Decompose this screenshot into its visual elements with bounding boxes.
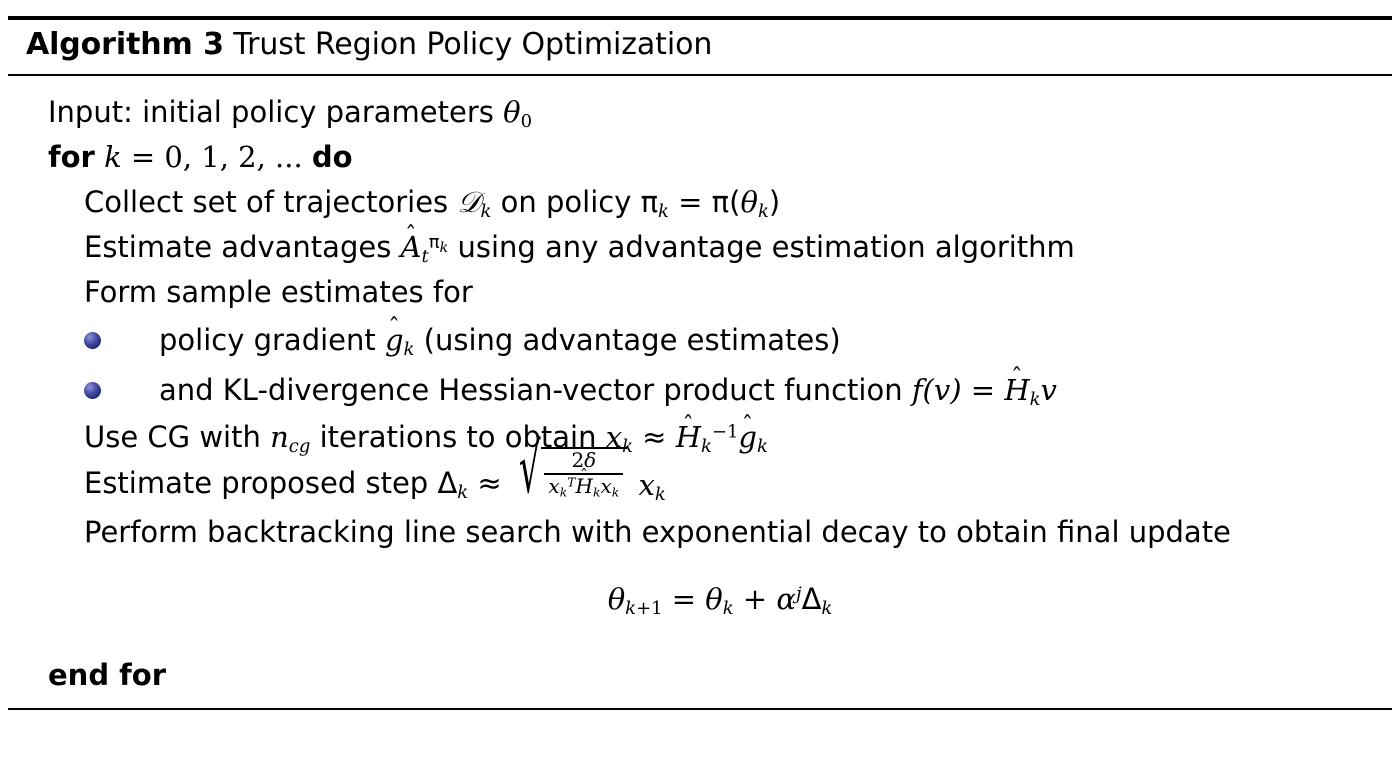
for-keyword: for — [48, 140, 95, 174]
step-trailing-symbol: xk — [638, 468, 665, 502]
bullet-item-hessian-vector: and KL-divergence Hessian-vector product… — [48, 365, 1392, 415]
algorithm-block: Algorithm 3 Trust Region Policy Optimiza… — [8, 16, 1392, 710]
do-keyword: do — [312, 140, 353, 174]
policy-symbol: πk = π(θk) — [641, 185, 781, 219]
end-for-keyword: end for — [48, 658, 166, 692]
approx-sign: ≈ — [642, 420, 666, 454]
for-values: = 0, 1, 2, ... — [122, 140, 303, 174]
input-text: initial policy parameters — [142, 95, 494, 129]
line-estimate-advantages: Estimate advantages ˆAtπk using any adva… — [48, 225, 1392, 270]
approx-sign: ≈ — [477, 466, 501, 500]
parameter-update-equation: θk+1 = θk + αjΔk — [48, 555, 1392, 635]
hessian-row: and KL-divergence Hessian-vector product… — [159, 365, 1057, 415]
line-backtracking: Perform backtracking line search with ex… — [48, 510, 1392, 555]
theta-zero-symbol: θ0 — [503, 95, 532, 129]
update-equation-math: θk+1 = θk + αjΔk — [608, 582, 833, 616]
step-delta-symbol: Δk — [437, 466, 468, 500]
line-form-estimates: Form sample estimates for — [48, 270, 1392, 315]
sqrt-expression: √ 2δ xkTˆHkxk — [517, 460, 627, 510]
policy-gradient-row: policy gradient ˆgk (using advantage est… — [159, 315, 841, 365]
line-end-for: end for — [8, 635, 1392, 704]
hessian-function-symbol: f(v) = ˆHkv — [912, 373, 1057, 407]
collect-text-mid: on policy — [501, 185, 632, 219]
bottom-rule — [8, 708, 1392, 710]
cg-text-before: Use CG with — [84, 420, 261, 454]
gradient-symbol: ˆgk — [385, 323, 414, 357]
policy-gradient-text-before: policy gradient — [159, 323, 376, 357]
step-text-before: Estimate proposed step — [84, 466, 428, 500]
line-estimate-step: Estimate proposed step Δk ≈ √ 2δ xkTˆHkx… — [48, 460, 1392, 510]
hessian-inverse-symbol: ˆHk−1ˆgk — [676, 420, 768, 454]
line-for: for k = 0, 1, 2, ... do — [48, 135, 1392, 180]
policy-gradient-text-after: (using advantage estimates) — [424, 323, 841, 357]
collect-text-before: Collect set of trajectories — [84, 185, 448, 219]
cg-iterations-symbol: ncg — [270, 420, 310, 454]
input-prefix: Input: — [48, 95, 133, 129]
radical-sign-icon: √ — [519, 435, 541, 504]
step-fraction: 2δ xkTˆHkxk — [544, 450, 623, 497]
line-input: Input: initial policy parameters θ0 — [48, 90, 1392, 135]
line-collect-trajectories: Collect set of trajectories 𝒟k on policy… — [48, 180, 1392, 225]
algorithm-body: Input: initial policy parameters θ0 for … — [8, 76, 1392, 635]
line-use-cg: Use CG with ncg iterations to obtain xk … — [48, 415, 1392, 460]
advantages-text-after: using any advantage estimation algorithm — [457, 230, 1074, 264]
for-condition: k — [104, 140, 122, 174]
fraction-denominator: xkTˆHkxk — [544, 473, 623, 498]
algorithm-title: Algorithm 3 Trust Region Policy Optimiza… — [8, 20, 1392, 72]
algorithm-label: Algorithm 3 — [26, 27, 224, 62]
bullet-item-policy-gradient: policy gradient ˆgk (using advantage est… — [48, 315, 1392, 365]
advantage-symbol: ˆAtπk — [401, 230, 449, 264]
dataset-symbol: 𝒟k — [457, 185, 491, 219]
hessian-text-before: and KL-divergence Hessian-vector product… — [159, 373, 903, 407]
bullet-point-icon — [84, 332, 101, 349]
algorithm-title-text: Trust Region Policy Optimization — [233, 27, 712, 62]
bullet-point-icon — [84, 382, 101, 399]
radicand: 2δ xkTˆHkxk — [541, 447, 627, 497]
advantages-text-before: Estimate advantages — [84, 230, 391, 264]
